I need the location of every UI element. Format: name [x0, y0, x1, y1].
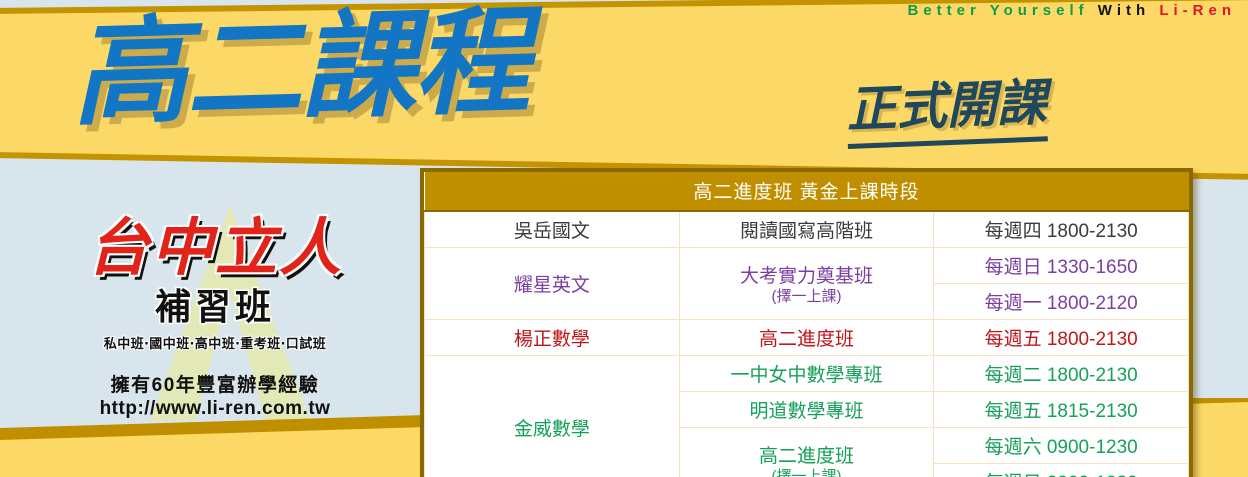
time-cell: 每週五 1815-2130	[934, 392, 1189, 428]
logo-experience: 擁有60年豐富辦學經驗	[45, 370, 385, 397]
logo-type: 補習班	[45, 278, 385, 330]
course-cell: 一中女中數學專班	[679, 356, 934, 392]
course-note: (擇一上課)	[682, 468, 932, 477]
table-row: 金威數學 一中女中數學專班 每週二 1800-2130	[425, 356, 1189, 392]
tagline-red: Li-Ren	[1159, 2, 1236, 19]
course-cell: 大考實力奠基班 (擇一上課)	[679, 248, 934, 320]
schedule-table-head: 高二進度班 黃金上課時段	[425, 172, 1189, 211]
time-cell: 每週二 1800-2130	[934, 356, 1189, 392]
teacher-cell: 耀星英文	[425, 248, 680, 320]
course-cell: 高二進度班 (擇一上課)	[679, 428, 934, 477]
table-row: 吳岳國文 閱讀國寫高階班 每週四 1800-2130	[425, 211, 1189, 248]
schedule-table: 高二進度班 黃金上課時段 吳岳國文 閱讀國寫高階班 每週四 1800-2130 …	[424, 172, 1189, 477]
time-cell: 每週日 1330-1650	[934, 248, 1189, 284]
time-cell: 每週一 1800-2120	[934, 284, 1189, 320]
course-name: 高二進度班	[759, 446, 854, 467]
teacher-cell: 吳岳國文	[425, 211, 680, 248]
logo-website-url[interactable]: http://www.li-ren.com.tw	[45, 398, 385, 420]
tagline: Better Yourself With Li-Ren	[907, 2, 1236, 19]
schedule-table-body: 吳岳國文 閱讀國寫高階班 每週四 1800-2130 耀星英文 大考實力奠基班 …	[425, 211, 1189, 477]
time-cell: 每週六 0900-1230	[934, 428, 1189, 464]
logo: 台中立人 補習班 私中班‧國中班‧高中班‧重考班‧口試班 擁有60年豐富辦學經驗…	[45, 215, 385, 420]
time-cell: 每週四 1800-2130	[934, 211, 1189, 248]
tagline-black: With	[1098, 2, 1150, 19]
course-name: 大考實力奠基班	[740, 266, 873, 287]
tagline-green: Better Yourself	[907, 2, 1088, 19]
table-row: 楊正數學 高二進度班 每週五 1800-2130	[425, 320, 1189, 356]
teacher-cell: 楊正數學	[425, 320, 680, 356]
course-cell: 高二進度班	[679, 320, 934, 356]
course-cell: 明道數學專班	[679, 392, 934, 428]
course-note: (擇一上課)	[682, 288, 932, 305]
schedule-table-container: 高二進度班 黃金上課時段 吳岳國文 閱讀國寫高階班 每週四 1800-2130 …	[420, 168, 1193, 477]
promo-banner: Better Yourself With Li-Ren 高二課程 正式開課 台中…	[0, 0, 1248, 477]
page-title: 高二課程	[70, 0, 529, 140]
logo-class-list: 私中班‧國中班‧高中班‧重考班‧口試班	[45, 333, 385, 352]
logo-name: 台中立人	[45, 215, 385, 280]
teacher-cell: 金威數學	[425, 356, 680, 477]
table-header-row: 高二進度班 黃金上課時段	[425, 172, 1189, 211]
page-subtitle: 正式開課	[845, 62, 1048, 149]
table-row: 耀星英文 大考實力奠基班 (擇一上課) 每週日 1330-1650	[425, 248, 1189, 284]
time-cell: 每週五 1800-2130	[934, 320, 1189, 356]
course-cell: 閱讀國寫高階班	[679, 211, 934, 248]
schedule-table-title: 高二進度班 黃金上課時段	[425, 172, 1189, 211]
time-cell: 每週日 0900-1230	[934, 464, 1189, 477]
